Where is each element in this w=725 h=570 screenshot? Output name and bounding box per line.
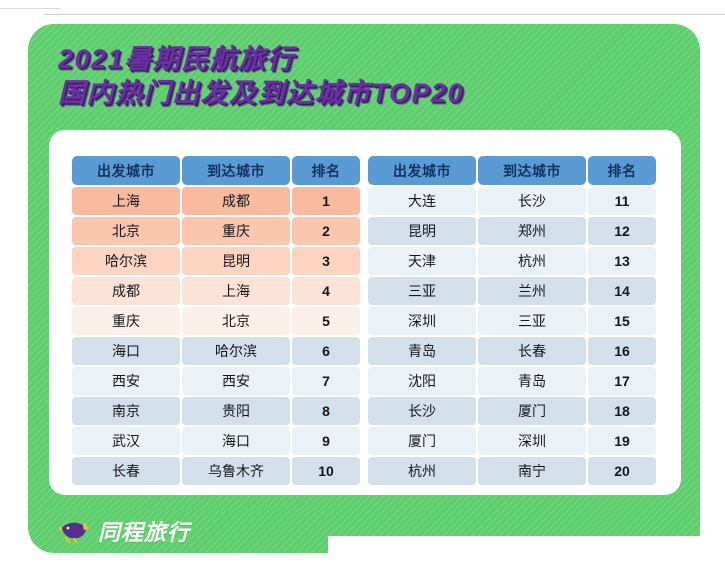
cell-departure-city: 南京 bbox=[72, 397, 180, 425]
cell-rank: 11 bbox=[588, 187, 656, 215]
table-row: 杭州南宁20 bbox=[368, 457, 656, 485]
cell-rank: 17 bbox=[588, 367, 656, 395]
table-row: 上海成都1 bbox=[72, 187, 360, 215]
cell-arrival-city: 厦门 bbox=[478, 397, 586, 425]
cell-arrival-city: 昆明 bbox=[182, 247, 290, 275]
table-row: 成都上海4 bbox=[72, 277, 360, 305]
table-row: 大连长沙11 bbox=[368, 187, 656, 215]
title-line-2: 国内热门出发及到达城市TOP20 bbox=[58, 76, 658, 110]
cell-rank: 18 bbox=[588, 397, 656, 425]
table-row: 北京重庆2 bbox=[72, 217, 360, 245]
table-row: 沈阳青岛17 bbox=[368, 367, 656, 395]
title-line-1: 2021暑期民航旅行 bbox=[58, 42, 658, 76]
cell-departure-city: 沈阳 bbox=[368, 367, 476, 395]
cell-rank: 19 bbox=[588, 427, 656, 455]
cell-departure-city: 成都 bbox=[72, 277, 180, 305]
cell-departure-city: 深圳 bbox=[368, 307, 476, 335]
cell-departure-city: 上海 bbox=[72, 187, 180, 215]
table-row: 三亚兰州14 bbox=[368, 277, 656, 305]
cell-departure-city: 大连 bbox=[368, 187, 476, 215]
table-row: 南京贵阳8 bbox=[72, 397, 360, 425]
cell-rank: 9 bbox=[292, 427, 360, 455]
column-header-arrival: 到达城市 bbox=[182, 156, 290, 185]
cell-rank: 16 bbox=[588, 337, 656, 365]
cell-departure-city: 天津 bbox=[368, 247, 476, 275]
table-row: 重庆北京5 bbox=[72, 307, 360, 335]
page-title: 2021暑期民航旅行 国内热门出发及到达城市TOP20 bbox=[58, 42, 658, 110]
cell-arrival-city: 乌鲁木齐 bbox=[182, 457, 290, 485]
bird-logo-icon bbox=[58, 518, 90, 544]
cell-rank: 14 bbox=[588, 277, 656, 305]
table-row: 青岛长春16 bbox=[368, 337, 656, 365]
cell-arrival-city: 成都 bbox=[182, 187, 290, 215]
cell-arrival-city: 长沙 bbox=[478, 187, 586, 215]
table-row: 武汉海口9 bbox=[72, 427, 360, 455]
cell-arrival-city: 深圳 bbox=[478, 427, 586, 455]
cell-rank: 8 bbox=[292, 397, 360, 425]
cell-arrival-city: 海口 bbox=[182, 427, 290, 455]
cell-arrival-city: 杭州 bbox=[478, 247, 586, 275]
ranking-table-right: 出发城市 到达城市 排名 大连长沙11昆明郑州12天津杭州13三亚兰州14深圳三… bbox=[366, 154, 658, 487]
cell-departure-city: 北京 bbox=[72, 217, 180, 245]
table-row: 哈尔滨昆明3 bbox=[72, 247, 360, 275]
cell-arrival-city: 三亚 bbox=[478, 307, 586, 335]
cell-rank: 3 bbox=[292, 247, 360, 275]
ranking-table-left: 出发城市 到达城市 排名 上海成都1北京重庆2哈尔滨昆明3成都上海4重庆北京5海… bbox=[70, 154, 362, 487]
cell-rank: 7 bbox=[292, 367, 360, 395]
table-header-row: 出发城市 到达城市 排名 bbox=[368, 156, 656, 185]
cell-departure-city: 西安 bbox=[72, 367, 180, 395]
cell-departure-city: 昆明 bbox=[368, 217, 476, 245]
brand-footer: 同程旅行 bbox=[58, 513, 190, 549]
cell-departure-city: 青岛 bbox=[368, 337, 476, 365]
cell-rank: 6 bbox=[292, 337, 360, 365]
cell-rank: 1 bbox=[292, 187, 360, 215]
cell-rank: 15 bbox=[588, 307, 656, 335]
table-row: 昆明郑州12 bbox=[368, 217, 656, 245]
cell-rank: 13 bbox=[588, 247, 656, 275]
cell-departure-city: 杭州 bbox=[368, 457, 476, 485]
cell-departure-city: 长沙 bbox=[368, 397, 476, 425]
table-row: 海口哈尔滨6 bbox=[72, 337, 360, 365]
table-row: 深圳三亚15 bbox=[368, 307, 656, 335]
cell-rank: 4 bbox=[292, 277, 360, 305]
cell-rank: 5 bbox=[292, 307, 360, 335]
column-header-departure: 出发城市 bbox=[72, 156, 180, 185]
top-divider bbox=[0, 8, 60, 9]
cell-rank: 20 bbox=[588, 457, 656, 485]
column-header-departure: 出发城市 bbox=[368, 156, 476, 185]
cell-arrival-city: 青岛 bbox=[478, 367, 586, 395]
column-header-rank: 排名 bbox=[588, 156, 656, 185]
cell-arrival-city: 北京 bbox=[182, 307, 290, 335]
cell-departure-city: 厦门 bbox=[368, 427, 476, 455]
cell-arrival-city: 贵阳 bbox=[182, 397, 290, 425]
cell-departure-city: 武汉 bbox=[72, 427, 180, 455]
cell-departure-city: 哈尔滨 bbox=[72, 247, 180, 275]
cell-arrival-city: 兰州 bbox=[478, 277, 586, 305]
cell-rank: 2 bbox=[292, 217, 360, 245]
table-row: 长沙厦门18 bbox=[368, 397, 656, 425]
cell-rank: 10 bbox=[292, 457, 360, 485]
cell-departure-city: 三亚 bbox=[368, 277, 476, 305]
cell-departure-city: 重庆 bbox=[72, 307, 180, 335]
cell-rank: 12 bbox=[588, 217, 656, 245]
table-row: 厦门深圳19 bbox=[368, 427, 656, 455]
column-header-rank: 排名 bbox=[292, 156, 360, 185]
cell-arrival-city: 上海 bbox=[182, 277, 290, 305]
cell-arrival-city: 哈尔滨 bbox=[182, 337, 290, 365]
cell-arrival-city: 长春 bbox=[478, 337, 586, 365]
table-header-row: 出发城市 到达城市 排名 bbox=[72, 156, 360, 185]
brand-name: 同程旅行 bbox=[98, 515, 190, 547]
table-row: 西安西安7 bbox=[72, 367, 360, 395]
column-header-arrival: 到达城市 bbox=[478, 156, 586, 185]
cell-departure-city: 海口 bbox=[72, 337, 180, 365]
cell-arrival-city: 西安 bbox=[182, 367, 290, 395]
table-card: 出发城市 到达城市 排名 上海成都1北京重庆2哈尔滨昆明3成都上海4重庆北京5海… bbox=[49, 130, 681, 495]
table-row: 天津杭州13 bbox=[368, 247, 656, 275]
cell-departure-city: 长春 bbox=[72, 457, 180, 485]
table-row: 长春乌鲁木齐10 bbox=[72, 457, 360, 485]
cell-arrival-city: 重庆 bbox=[182, 217, 290, 245]
cell-arrival-city: 南宁 bbox=[478, 457, 586, 485]
cell-arrival-city: 郑州 bbox=[478, 217, 586, 245]
top-divider-long bbox=[44, 14, 725, 15]
